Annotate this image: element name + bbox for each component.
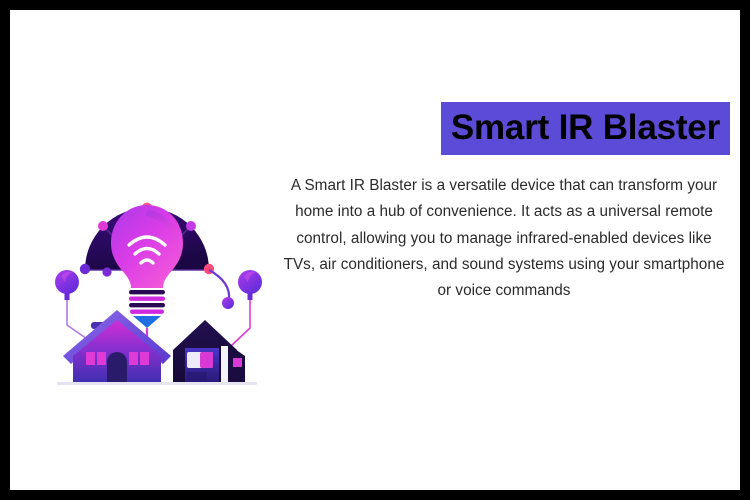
network-node-floating [222,297,234,309]
window [129,352,138,365]
house-right-window-small [233,358,242,367]
network-arc [209,270,229,300]
ground-line [57,382,257,385]
network-node-upper-left [98,221,108,231]
network-node-inner-left [102,267,111,276]
page-title: Smart IR Blaster [441,102,730,155]
network-node-left [80,264,90,274]
network-node-upper-right [186,221,196,231]
door [107,352,127,382]
body-paragraph: A Smart IR Blaster is a versatile device… [278,173,730,304]
window [86,352,95,365]
slide-frame: Smart IR Blaster A Smart IR Blaster is a… [0,0,750,500]
smart-home-lightbulb-illustration [45,150,285,390]
bulb-socket [129,290,165,328]
slide-canvas: Smart IR Blaster A Smart IR Blaster is a… [10,10,740,490]
window [140,352,149,365]
content-column: Smart IR Blaster A Smart IR Blaster is a… [278,102,730,304]
house-right [173,320,245,382]
window [97,352,106,365]
title-row: Smart IR Blaster [278,102,730,155]
